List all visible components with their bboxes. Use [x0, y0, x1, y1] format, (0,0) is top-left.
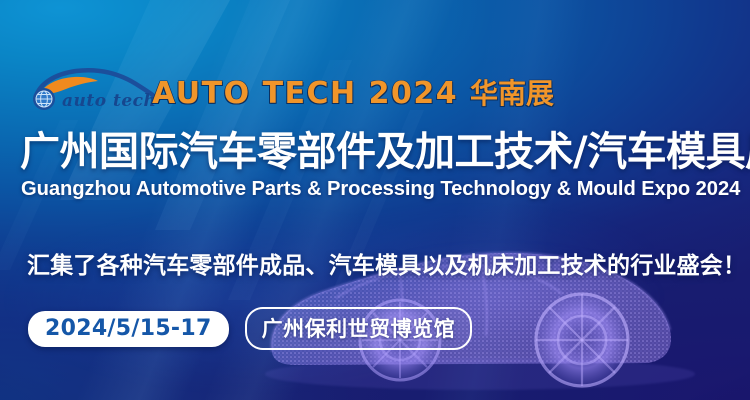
kicker-latin: AUTO TECH 2024 [152, 76, 458, 111]
kicker-chinese: 华南展 [470, 77, 554, 110]
auto-tech-logo: auto tech [24, 62, 160, 114]
logo-brand-text: auto tech [62, 91, 156, 111]
tagline: 汇集了各种汽车零部件成品、汽车模具以及机床加工技术的行业盛会！ [27, 246, 746, 280]
badge-row: 2024/5/15-17 广州保利世贸博览馆 [28, 307, 472, 350]
venue-badge: 广州保利世贸博览馆 [245, 307, 473, 350]
title-chinese: 广州国际汽车零部件及加工技术/汽车模具展览会 [20, 129, 750, 175]
kicker-line: AUTO TECH 2024 华南展 [152, 72, 554, 112]
date-badge: 2024/5/15-17 [28, 311, 229, 347]
title-english: Guangzhou Automotive Parts & Processing … [21, 177, 740, 201]
expo-banner: auto tech AUTO TECH 2024 华南展 广州国际汽车零部件及加… [0, 0, 750, 400]
